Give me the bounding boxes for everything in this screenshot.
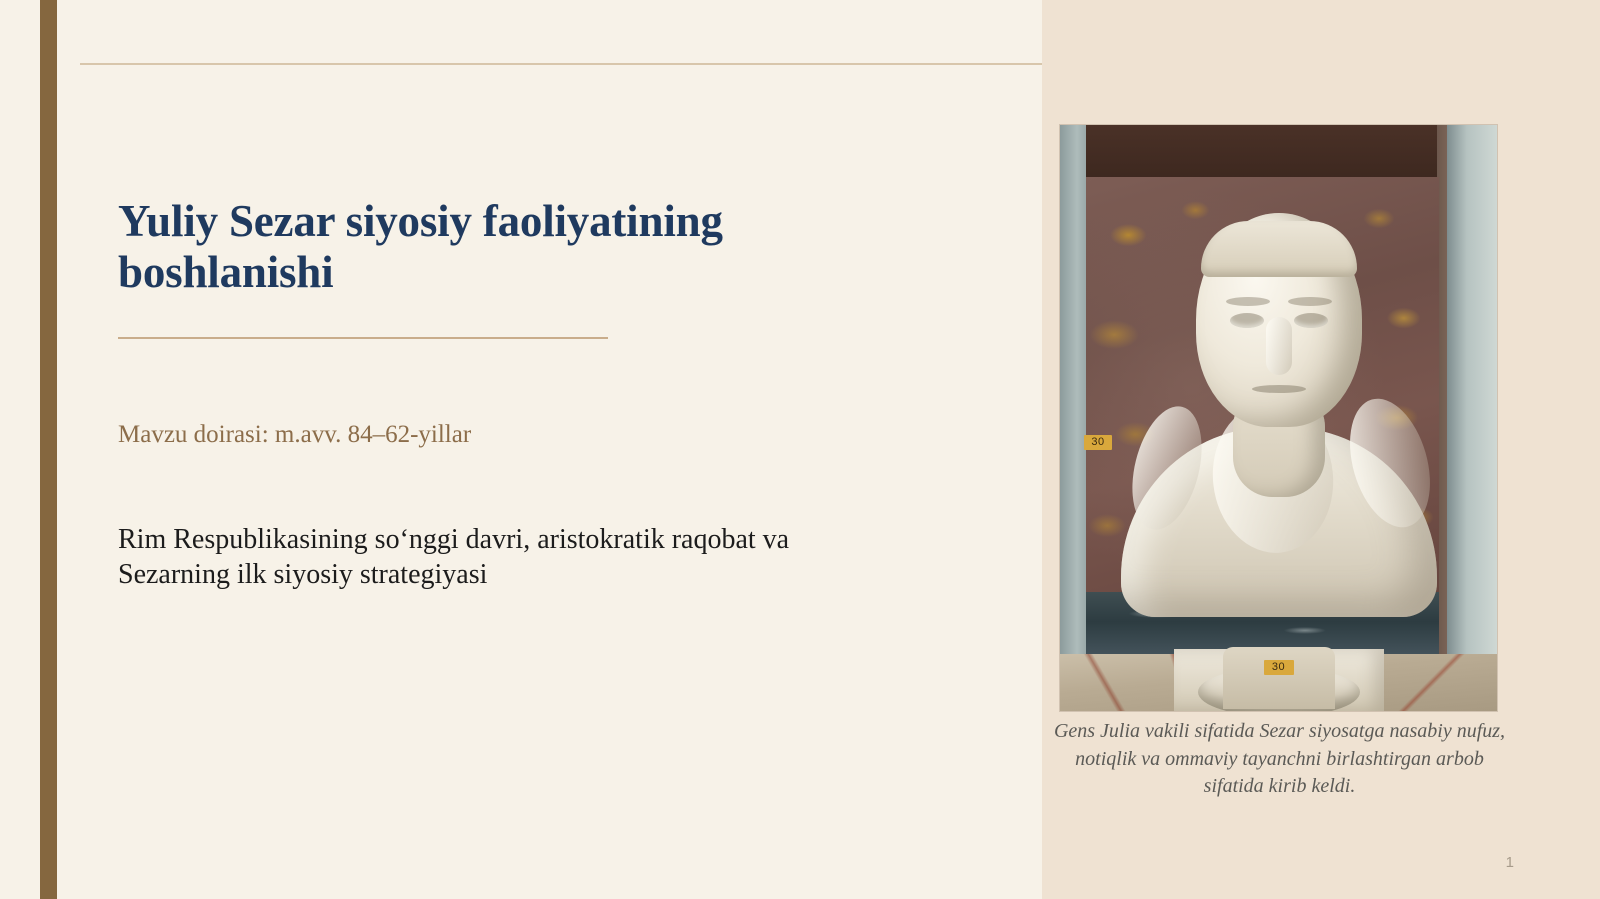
subject-scope-text: Mavzu doirasi: m.avv. 84–62-yillar — [118, 419, 948, 452]
left-accent-bar — [40, 0, 57, 899]
wall-right-pillar — [1447, 125, 1497, 711]
top-divider-rule — [80, 63, 1042, 65]
drape-fold-right — [1336, 389, 1444, 536]
slide: Yuliy Sezar siyosiy faoliyatining boshla… — [0, 0, 1600, 899]
title-block: Yuliy Sezar siyosiy faoliyatining boshla… — [118, 196, 948, 593]
page-number: 1 — [1506, 854, 1514, 871]
figure-caption: Gens Julia vakili sifatida Sezar siyosat… — [1052, 718, 1507, 801]
lede-text: Rim Respublikasining so‘nggi davri, aris… — [118, 523, 798, 592]
museum-label-upper: 30 — [1084, 435, 1112, 450]
bust-eye-right — [1294, 313, 1328, 328]
bust-brow-right — [1288, 297, 1332, 306]
pedestal-stem — [1223, 647, 1335, 709]
museum-label-lower: 30 — [1264, 660, 1294, 675]
photo-content: 30 30 — [1060, 125, 1497, 711]
drape-fold-left — [1120, 399, 1213, 537]
bust-eye-left — [1230, 313, 1264, 328]
bust-nose — [1266, 317, 1292, 375]
bust-mouth — [1252, 385, 1306, 393]
bust-brow-left — [1226, 297, 1270, 306]
title-underline-rule — [118, 337, 608, 339]
wall-dark-band — [1086, 125, 1437, 180]
bust-photo: 30 30 — [1060, 125, 1497, 711]
page-title: Yuliy Sezar siyosiy faoliyatining boshla… — [118, 196, 948, 299]
bust-head — [1196, 213, 1362, 427]
bust-hair — [1201, 221, 1357, 277]
pedestal: 30 — [1164, 583, 1394, 711]
